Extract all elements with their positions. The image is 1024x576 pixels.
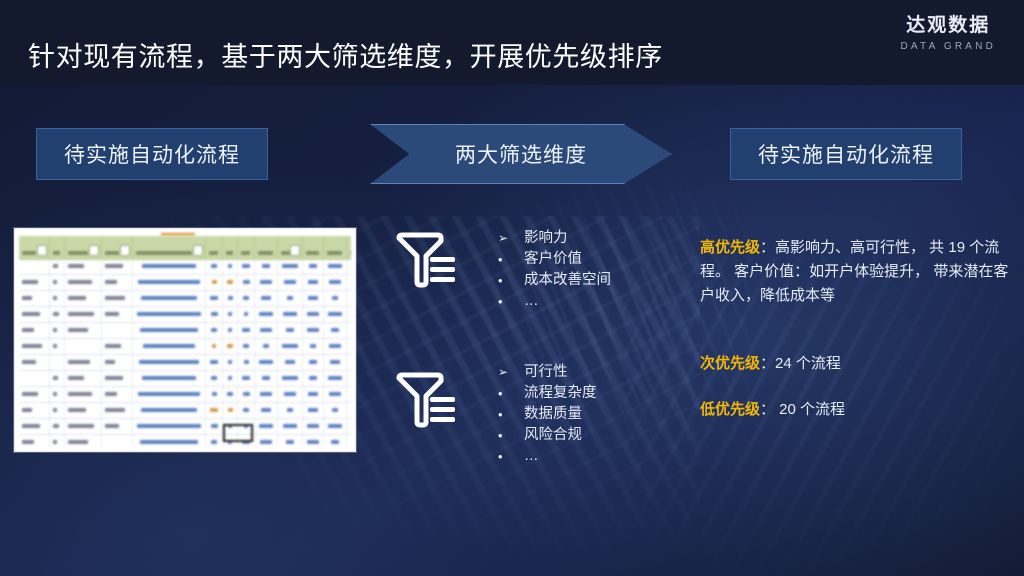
priority-mid-label: 次优先级 (700, 355, 760, 372)
spreadsheet-cell (206, 339, 223, 354)
spreadsheet-cell (238, 275, 255, 290)
dimension-list-impact: ➢影响力•客户价值•成本改善空间•… (498, 228, 611, 312)
spreadsheet-cell (19, 387, 50, 402)
spreadsheet-cell (19, 323, 50, 338)
brand-logo: 达观数据 DATA GRAND (900, 14, 996, 52)
list-item-label: 可行性 (524, 362, 568, 383)
spreadsheet-header-cell (206, 236, 223, 259)
spreadsheet-header-row (19, 236, 351, 260)
spreadsheet-cell (206, 371, 223, 386)
spreadsheet-cell (303, 403, 324, 418)
spreadsheet-cell (238, 371, 255, 386)
spreadsheet-cell (65, 355, 102, 370)
dot-bullet-icon: • (498, 383, 524, 404)
spreadsheet-cell (347, 355, 351, 370)
spreadsheet-cell (133, 339, 206, 354)
spreadsheet-cell (303, 307, 324, 322)
spreadsheet-cell (50, 419, 65, 434)
spreadsheet-cell (65, 371, 102, 386)
spreadsheet-cell (278, 323, 303, 338)
spreadsheet-cell (303, 275, 324, 290)
spreadsheet-cell (278, 339, 303, 354)
spreadsheet-cell (324, 275, 347, 290)
spreadsheet-cell (206, 403, 223, 418)
priority-mid-body: ：24 个流程 (760, 355, 841, 372)
spreadsheet-header-cell (303, 236, 324, 259)
spreadsheet-cell (19, 419, 50, 434)
spreadsheet-cell (102, 307, 133, 322)
spreadsheet-cell (133, 403, 206, 418)
spreadsheet-cell (223, 371, 238, 386)
spreadsheet-cell (50, 339, 65, 354)
spreadsheet-cell (255, 403, 278, 418)
spreadsheet-cell (255, 323, 278, 338)
spreadsheet-cell (238, 355, 255, 370)
spreadsheet-cell (50, 403, 65, 418)
spreadsheet-cell (19, 339, 50, 354)
spreadsheet-header-cell (102, 236, 133, 259)
spreadsheet-cell (324, 339, 347, 354)
spreadsheet-inner (19, 233, 351, 447)
spreadsheet-cell (238, 387, 255, 402)
filter-funnel-icon (396, 372, 460, 437)
spreadsheet-cell (65, 307, 102, 322)
slide-root: 针对现有流程，基于两大筛选维度，开展优先级排序 达观数据 DATA GRAND … (0, 0, 1024, 576)
spreadsheet-cell (133, 291, 206, 306)
spreadsheet-cell (255, 259, 278, 274)
list-item: •流程复杂度 (498, 383, 597, 404)
spreadsheet-cell (223, 275, 238, 290)
spreadsheet-cell (50, 387, 65, 402)
spreadsheet-cell (238, 307, 255, 322)
spreadsheet-cell (50, 275, 65, 290)
spreadsheet-cell (223, 339, 238, 354)
spreadsheet-cell (19, 275, 50, 290)
spreadsheet-header-cell (223, 236, 238, 259)
spreadsheet-cell (347, 419, 351, 434)
spreadsheet-cell (133, 387, 206, 402)
spreadsheet-cell (347, 291, 351, 306)
spreadsheet-cell (278, 275, 303, 290)
spreadsheet-cell (102, 323, 133, 338)
banner-right-process-list: 待实施自动化流程 (730, 128, 962, 180)
banner-middle-dimensions: 两大筛选维度 (370, 124, 672, 184)
spreadsheet-cell (255, 419, 278, 434)
spreadsheet-cell (102, 435, 133, 447)
arrow-bullet-icon: ➢ (498, 228, 524, 249)
spreadsheet-cell (50, 291, 65, 306)
spreadsheet-cell (19, 291, 50, 306)
spreadsheet-cell (206, 307, 223, 322)
spreadsheet-cell (255, 339, 278, 354)
arrow-bullet-icon: ➢ (498, 362, 524, 383)
spreadsheet-cell (19, 435, 50, 447)
dot-bullet-icon: • (498, 404, 524, 425)
priority-high-label: 高优先级 (700, 239, 760, 256)
spreadsheet-cell (102, 403, 133, 418)
spreadsheet-cell (223, 323, 238, 338)
spreadsheet-cell (324, 259, 347, 274)
spreadsheet-row (19, 435, 351, 447)
spreadsheet-cell (255, 387, 278, 402)
spreadsheet-header-cell (238, 236, 255, 259)
spreadsheet-cell (238, 259, 255, 274)
spreadsheet-cell (102, 259, 133, 274)
spreadsheet-cell (133, 419, 206, 434)
spreadsheet-row (19, 323, 351, 339)
list-item-label: 成本改善空间 (524, 270, 611, 291)
spreadsheet-cell (133, 323, 206, 338)
spreadsheet-cell (206, 291, 223, 306)
spreadsheet-cell (347, 435, 351, 447)
spreadsheet-cell (19, 307, 50, 322)
spreadsheet-cell (278, 259, 303, 274)
spreadsheet-row (19, 371, 351, 387)
dot-bullet-icon: • (498, 291, 524, 312)
spreadsheet-cell (324, 435, 347, 447)
list-item: •… (498, 446, 597, 467)
spreadsheet-screenshot (14, 228, 356, 452)
spreadsheet-cell (324, 419, 347, 434)
spreadsheet-row (19, 355, 351, 371)
spreadsheet-cell (102, 355, 133, 370)
spreadsheet-cell (223, 387, 238, 402)
spreadsheet-header-cell (133, 236, 206, 259)
spreadsheet-cell (50, 355, 65, 370)
spreadsheet-cell (324, 323, 347, 338)
list-item: •客户价值 (498, 249, 611, 270)
spreadsheet-cell (238, 323, 255, 338)
spreadsheet-cell (223, 307, 238, 322)
spreadsheet-selected-cell (223, 424, 253, 442)
spreadsheet-cell (255, 355, 278, 370)
spreadsheet-cell (303, 259, 324, 274)
spreadsheet-cell (206, 275, 223, 290)
spreadsheet-cell (255, 307, 278, 322)
dot-bullet-icon: • (498, 249, 524, 270)
list-item-label: 风险合规 (524, 425, 582, 446)
spreadsheet-cell (347, 387, 351, 402)
spreadsheet-cell (324, 387, 347, 402)
spreadsheet-cell (303, 323, 324, 338)
spreadsheet-cell (278, 419, 303, 434)
filter-funnel-icon (396, 232, 460, 297)
page-title: 针对现有流程，基于两大筛选维度，开展优先级排序 (28, 35, 663, 74)
spreadsheet-cell (65, 387, 102, 402)
spreadsheet-row (19, 307, 351, 323)
spreadsheet-cell (324, 403, 347, 418)
spreadsheet-cell (133, 371, 206, 386)
spreadsheet-row (19, 275, 351, 291)
spreadsheet-cell (223, 403, 238, 418)
spreadsheet-cell (278, 371, 303, 386)
spreadsheet-cell (303, 291, 324, 306)
spreadsheet-cell (303, 355, 324, 370)
spreadsheet-cell (347, 403, 351, 418)
spreadsheet-cell (65, 419, 102, 434)
spreadsheet-cell (303, 371, 324, 386)
spreadsheet-cell (278, 435, 303, 447)
spreadsheet-header-cell (347, 236, 351, 259)
spreadsheet-cell (19, 259, 50, 274)
spreadsheet-cell (255, 275, 278, 290)
list-item: ➢可行性 (498, 362, 597, 383)
spreadsheet-cell (50, 307, 65, 322)
dimension-list-feasibility: ➢可行性•流程复杂度•数据质量•风险合规•… (498, 362, 597, 467)
dot-bullet-icon: • (498, 425, 524, 446)
spreadsheet-header-cell (255, 236, 278, 259)
list-item-label: 客户价值 (524, 249, 582, 270)
spreadsheet-cell (133, 435, 206, 447)
spreadsheet-cell (206, 387, 223, 402)
spreadsheet-header-cell (324, 236, 347, 259)
spreadsheet-cell (255, 371, 278, 386)
spreadsheet-header-cell (19, 236, 50, 259)
spreadsheet-cell (255, 291, 278, 306)
spreadsheet-cell (65, 339, 102, 354)
spreadsheet-cell (65, 291, 102, 306)
list-item: •数据质量 (498, 404, 597, 425)
spreadsheet-cell (238, 339, 255, 354)
spreadsheet-cell (65, 259, 102, 274)
spreadsheet-row (19, 403, 351, 419)
spreadsheet-cell (65, 435, 102, 447)
list-item-label: … (524, 446, 539, 467)
spreadsheet-cell (65, 275, 102, 290)
spreadsheet-cell (102, 291, 133, 306)
dot-bullet-icon: • (498, 446, 524, 467)
spreadsheet-cell (206, 435, 223, 447)
spreadsheet-cell (223, 259, 238, 274)
spreadsheet-cell (133, 307, 206, 322)
spreadsheet-cell (324, 355, 347, 370)
spreadsheet-cell (19, 355, 50, 370)
priority-low: 低优先级： 20 个流程 (700, 398, 1010, 419)
spreadsheet-cell (223, 291, 238, 306)
spreadsheet-cell (50, 371, 65, 386)
list-item: •成本改善空间 (498, 270, 611, 291)
spreadsheet-cell (347, 259, 351, 274)
spreadsheet-row (19, 339, 351, 355)
spreadsheet-cell (206, 355, 223, 370)
spreadsheet-cell (133, 259, 206, 274)
spreadsheet-cell (278, 387, 303, 402)
spreadsheet-cell (303, 435, 324, 447)
spreadsheet-cell (19, 403, 50, 418)
spreadsheet-row (19, 387, 351, 403)
spreadsheet-row (19, 259, 351, 275)
priority-low-label: 低优先级 (700, 401, 760, 418)
spreadsheet-cell (206, 323, 223, 338)
spreadsheet-cell (206, 419, 223, 434)
spreadsheet-cell (347, 323, 351, 338)
logo-text-cn: 达观数据 (900, 14, 996, 38)
spreadsheet-cell (238, 403, 255, 418)
spreadsheet-cell (347, 339, 351, 354)
list-item-label: 影响力 (524, 228, 568, 249)
spreadsheet-accent-bar (161, 233, 195, 235)
spreadsheet-cell (347, 371, 351, 386)
logo-text-en: DATA GRAND (900, 41, 996, 52)
list-item: •风险合规 (498, 425, 597, 446)
spreadsheet-cell (50, 259, 65, 274)
spreadsheet-row (19, 419, 351, 435)
spreadsheet-cell (102, 419, 133, 434)
spreadsheet-cell (303, 419, 324, 434)
spreadsheet-header-cell (65, 236, 102, 259)
spreadsheet-cell (324, 291, 347, 306)
spreadsheet-cell (50, 323, 65, 338)
spreadsheet-cell (65, 323, 102, 338)
dot-bullet-icon: • (498, 270, 524, 291)
spreadsheet-cell (255, 435, 278, 447)
spreadsheet-cell (278, 355, 303, 370)
spreadsheet-cell (133, 275, 206, 290)
priority-mid: 次优先级：24 个流程 (700, 352, 1010, 373)
banner-left-process-list: 待实施自动化流程 (36, 128, 268, 180)
priority-low-body: ： 20 个流程 (760, 401, 845, 418)
spreadsheet-cell (278, 291, 303, 306)
spreadsheet-cell (65, 403, 102, 418)
list-item-label: 流程复杂度 (524, 383, 597, 404)
priority-high: 高优先级：高影响力、高可行性， 共 19 个流程。 客户价值：如开户体验提升， … (700, 236, 1010, 308)
spreadsheet-cell (347, 307, 351, 322)
spreadsheet-row (19, 291, 351, 307)
spreadsheet-cell (133, 355, 206, 370)
list-item: •… (498, 291, 611, 312)
list-item-label: 数据质量 (524, 404, 582, 425)
spreadsheet-cell (238, 291, 255, 306)
spreadsheet-cell (102, 339, 133, 354)
list-item-label: … (524, 291, 539, 312)
spreadsheet-cell (347, 275, 351, 290)
spreadsheet-cell (102, 275, 133, 290)
list-item: ➢影响力 (498, 228, 611, 249)
spreadsheet-cell (206, 259, 223, 274)
spreadsheet-header-cell (278, 236, 303, 259)
spreadsheet-cell (102, 387, 133, 402)
spreadsheet-cell (303, 339, 324, 354)
spreadsheet-cell (324, 307, 347, 322)
spreadsheet-cell (278, 307, 303, 322)
spreadsheet-cell (223, 355, 238, 370)
spreadsheet-cell (324, 371, 347, 386)
spreadsheet-header-cell (50, 236, 65, 259)
spreadsheet-cell (19, 371, 50, 386)
spreadsheet-body (19, 259, 351, 447)
spreadsheet-cell (50, 435, 65, 447)
spreadsheet-cell (303, 387, 324, 402)
spreadsheet-cell (278, 403, 303, 418)
spreadsheet-cell (102, 371, 133, 386)
